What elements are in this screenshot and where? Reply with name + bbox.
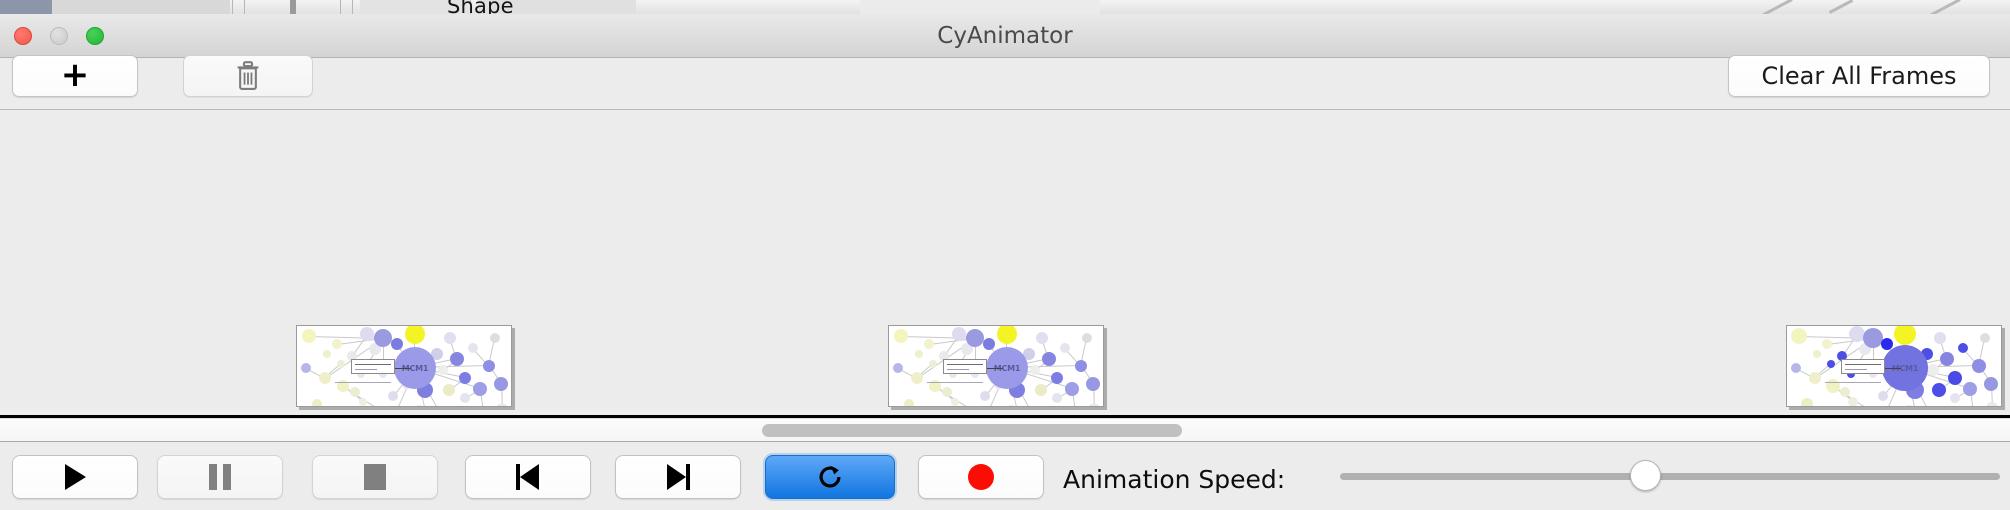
network-node (1082, 333, 1092, 343)
network-node (911, 372, 923, 384)
callout-arrow (395, 368, 411, 369)
network-node (1963, 382, 1977, 396)
network-node (1934, 332, 1946, 344)
network-node (459, 372, 471, 384)
timeline-panel[interactable]: MCM1MCM1MCM1 12131415161718 Seconds (0, 110, 2010, 415)
network-node (1086, 377, 1100, 391)
animation-speed-slider-thumb[interactable] (1630, 460, 1661, 491)
skip-forward-button[interactable] (615, 455, 741, 499)
callout-text-line (1845, 364, 1881, 365)
network-callout-box (1841, 359, 1885, 374)
network-node (360, 327, 374, 341)
title-bar: CyAnimator (0, 14, 2010, 58)
network-node (1927, 364, 1939, 376)
network-node (337, 360, 345, 368)
network-node (1894, 325, 1916, 345)
network-node (1840, 387, 1850, 397)
loop-icon (815, 462, 845, 492)
network-node (1984, 377, 1998, 391)
network-node (966, 329, 984, 347)
animation-speed-slider-track[interactable] (1340, 473, 2000, 480)
network-node (443, 384, 455, 396)
playback-bar: Animation Speed: (0, 443, 2010, 510)
network-node (1060, 343, 1070, 353)
network-node (460, 393, 470, 403)
callout-arrow (987, 368, 1003, 369)
network-node (942, 387, 952, 397)
network-node (483, 360, 495, 372)
network-node (414, 405, 424, 407)
network-node (1791, 363, 1801, 373)
network-node (951, 398, 959, 406)
cytoscape-network-thumbnail: MCM1 (297, 326, 511, 406)
network-node (490, 333, 500, 343)
network-node (1030, 365, 1040, 375)
network-node (997, 325, 1017, 344)
timeline-frame[interactable]: MCM1 (1786, 325, 2002, 407)
timeline-frame[interactable]: MCM1 (296, 325, 512, 407)
network-node (319, 372, 331, 384)
network-node (374, 329, 392, 347)
network-node (1791, 328, 1807, 344)
network-caption-line (927, 382, 983, 383)
network-node (359, 398, 367, 406)
network-node (1958, 343, 1968, 353)
network-node (893, 363, 903, 373)
network-node (1940, 352, 1954, 366)
network-node (894, 329, 908, 343)
callout-text-line (355, 369, 377, 370)
network-node (302, 329, 316, 343)
callout-text-line (355, 364, 391, 365)
network-caption-line (1825, 382, 1881, 383)
network-callout-box (351, 359, 395, 374)
callout-text-line (947, 369, 969, 370)
timeline-track[interactable]: MCM1MCM1MCM1 (0, 110, 2010, 415)
network-node (332, 339, 342, 349)
callout-text-line (1845, 369, 1867, 370)
window-title: CyAnimator (0, 14, 2010, 58)
clear-all-frames-button[interactable]: Clear All Frames (1728, 55, 1990, 97)
network-node (1813, 350, 1821, 358)
network-node (1878, 391, 1888, 401)
record-button[interactable] (918, 455, 1044, 499)
loop-button[interactable] (765, 455, 895, 499)
background-shape-label: Shape (447, 0, 514, 14)
network-node (1932, 383, 1946, 397)
network-caption-line (335, 382, 391, 383)
stop-button[interactable] (312, 455, 438, 499)
cytoscape-network-thumbnail: MCM1 (889, 326, 1103, 406)
callout-arrow (1885, 368, 1901, 369)
network-node (1948, 371, 1962, 385)
network-node (1089, 403, 1099, 407)
network-node (1986, 402, 1998, 407)
network-node (904, 399, 914, 407)
network-node (391, 338, 403, 350)
animation-speed-label: Animation Speed: (1063, 465, 1285, 494)
network-node (980, 391, 990, 401)
timeline-scrollbar[interactable] (0, 418, 2010, 442)
network-node (915, 350, 923, 358)
stop-icon (364, 464, 386, 490)
cytoscape-network-thumbnail: MCM1 (1787, 326, 2001, 406)
pause-icon (209, 464, 231, 490)
plus-icon: + (61, 58, 90, 92)
skip-back-button[interactable] (465, 455, 591, 499)
network-node (929, 360, 937, 368)
network-node (924, 339, 934, 349)
background-window-strip: Shape (0, 0, 2010, 14)
network-node (1980, 333, 1990, 343)
network-node (473, 382, 487, 396)
network-node (388, 391, 398, 401)
network-node (1827, 360, 1835, 368)
timeline-frame[interactable]: MCM1 (888, 325, 1104, 407)
callout-text-line (947, 364, 983, 365)
network-node (1042, 352, 1056, 366)
play-button[interactable] (12, 455, 138, 499)
network-callout-box (943, 359, 987, 374)
network-node (350, 387, 360, 397)
cyanimator-window: Shape CyAnimator + Clear All Frames MCM1… (0, 0, 2010, 510)
network-node (405, 325, 425, 344)
network-node (494, 377, 508, 391)
network-node (1904, 405, 1914, 407)
network-node (468, 343, 478, 353)
network-node (1036, 332, 1048, 344)
skip-forward-icon (666, 464, 690, 490)
network-node (1839, 406, 1851, 407)
network-node (1006, 405, 1016, 407)
network-node (1051, 372, 1063, 384)
network-node (323, 350, 331, 358)
network-node (952, 327, 966, 341)
network-node (450, 352, 464, 366)
add-frame-button[interactable]: + (12, 55, 138, 97)
network-node (444, 332, 456, 344)
network-node (1863, 328, 1883, 348)
network-node (1035, 384, 1047, 396)
network-node (1950, 393, 1960, 403)
network-node (1065, 382, 1079, 396)
network-node (1848, 397, 1858, 407)
network-node (1052, 393, 1062, 403)
network-node (1075, 360, 1087, 372)
trash-icon (234, 61, 262, 91)
scrollbar-thumb[interactable] (762, 424, 1182, 437)
network-node (312, 399, 322, 407)
network-node (301, 363, 311, 373)
record-icon (968, 464, 994, 490)
pause-button[interactable] (157, 455, 283, 499)
network-node (1972, 359, 1986, 373)
network-node (983, 338, 995, 350)
delete-frame-button[interactable] (183, 55, 313, 97)
network-node (1822, 339, 1832, 349)
play-icon (65, 464, 86, 490)
network-node (497, 403, 507, 407)
clear-all-frames-label: Clear All Frames (1761, 62, 1956, 90)
network-node (1801, 398, 1813, 407)
skip-back-icon (516, 464, 540, 490)
network-node (1809, 372, 1821, 384)
network-node (438, 365, 448, 375)
